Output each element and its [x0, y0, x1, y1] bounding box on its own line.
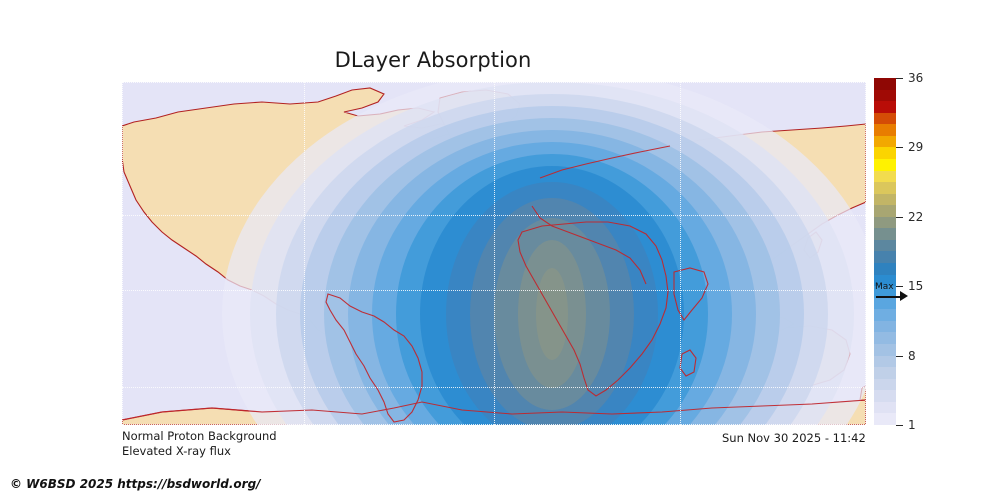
colorbar-band	[874, 136, 896, 148]
colorbar-band	[874, 344, 896, 356]
colorbar-tick-22: 22	[896, 210, 923, 224]
map-gridlines	[122, 82, 866, 425]
colorbar-tick-8: 8	[896, 349, 916, 363]
colorbar-band	[874, 367, 896, 379]
colorbar-band	[874, 332, 896, 344]
status-line-proton: Normal Proton Background	[122, 429, 277, 444]
colorbar-band	[874, 413, 896, 425]
colorbar-tick-15: 15	[896, 279, 923, 293]
colorbar-band	[874, 390, 896, 402]
status-line-xray: Elevated X-ray flux	[122, 444, 277, 459]
colorbar-tick-36: 36	[896, 71, 923, 85]
colorbar-band	[874, 228, 896, 240]
colorbar-band	[874, 182, 896, 194]
colorbar-band	[874, 217, 896, 229]
timestamp: Sun Nov 30 2025 - 11:42	[722, 431, 866, 445]
colorbar-band	[874, 124, 896, 136]
status-block: Normal Proton Background Elevated X-ray …	[122, 429, 277, 459]
colorbar-max-label: Max	[875, 282, 894, 292]
colorbar-band	[874, 263, 896, 275]
colorbar-band	[874, 147, 896, 159]
page-title: DLayer Absorption	[0, 48, 866, 72]
colorbar-band	[874, 321, 896, 333]
colorbar[interactable]	[874, 78, 896, 425]
colorbar-band	[874, 78, 896, 90]
colorbar-axis-label: Affected Frequency (MHz)	[930, 78, 1000, 425]
colorbar-band	[874, 113, 896, 125]
colorbar-tick-29: 29	[896, 140, 923, 154]
colorbar-band	[874, 240, 896, 252]
colorbar-band	[874, 205, 896, 217]
colorbar-band	[874, 251, 896, 263]
colorbar-band	[874, 356, 896, 368]
dlayer-absorption-figure: DLayer Absorption	[0, 0, 1000, 500]
colorbar-band	[874, 90, 896, 102]
colorbar-band	[874, 159, 896, 171]
colorbar-band	[874, 379, 896, 391]
colorbar-band	[874, 101, 896, 113]
credit-line: © W6BSD 2025 https://bsdworld.org/	[10, 477, 261, 491]
colorbar-tick-1: 1	[896, 418, 916, 432]
colorbar-band	[874, 309, 896, 321]
colorbar-band	[874, 402, 896, 414]
colorbar-band	[874, 194, 896, 206]
world-map-axes[interactable]	[122, 82, 866, 425]
colorbar-band	[874, 171, 896, 183]
